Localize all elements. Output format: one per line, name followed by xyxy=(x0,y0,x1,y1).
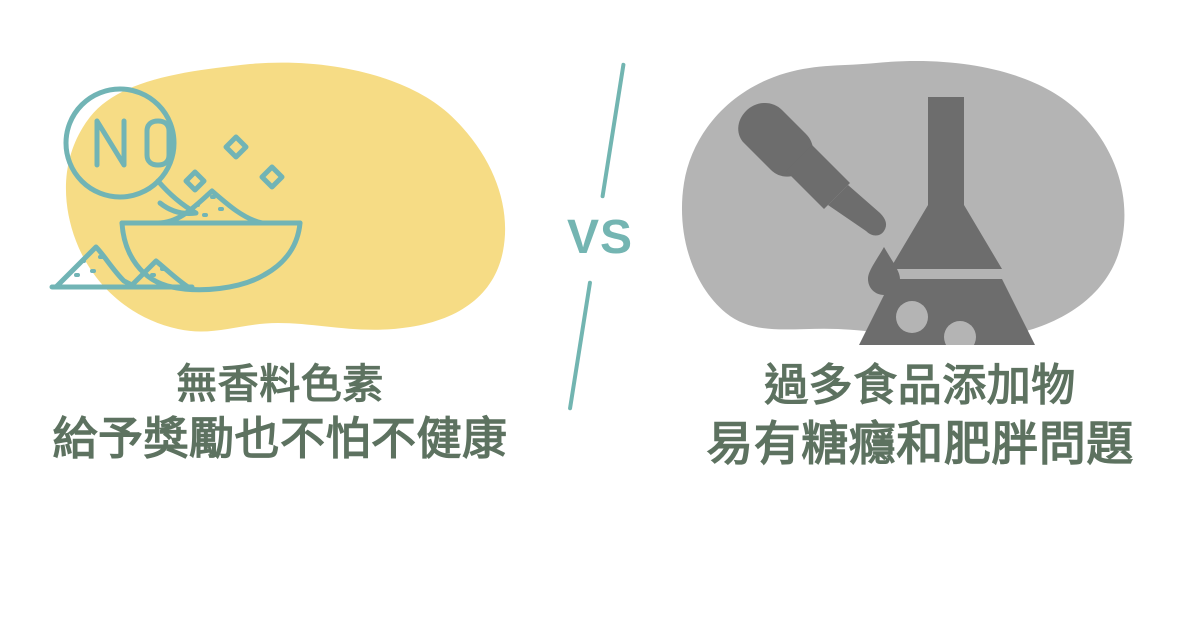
right-illustration xyxy=(640,55,1200,345)
left-comparison-panel: 無香料色素 給予獎勵也不怕不健康 xyxy=(0,0,560,619)
comparison-graphic: 無香料色素 給予獎勵也不怕不健康 VS xyxy=(0,0,1200,619)
left-caption: 無香料色素 給予獎勵也不怕不健康 xyxy=(0,358,560,468)
left-illustration xyxy=(0,55,560,345)
right-caption-line-2: 易有糖癮和肥胖問題 xyxy=(640,414,1200,474)
right-caption: 過多食品添加物 易有糖癮和肥胖問題 xyxy=(640,358,1200,474)
right-caption-line-1: 過多食品添加物 xyxy=(640,358,1200,414)
left-caption-line-1: 無香料色素 xyxy=(0,358,560,410)
divider-line-top xyxy=(600,63,625,199)
left-caption-line-2: 給予獎勵也不怕不健康 xyxy=(0,410,560,468)
flask-bubble-left xyxy=(896,301,928,333)
divider-line-bottom xyxy=(568,280,592,410)
right-comparison-panel: 過多食品添加物 易有糖癮和肥胖問題 xyxy=(640,0,1200,619)
